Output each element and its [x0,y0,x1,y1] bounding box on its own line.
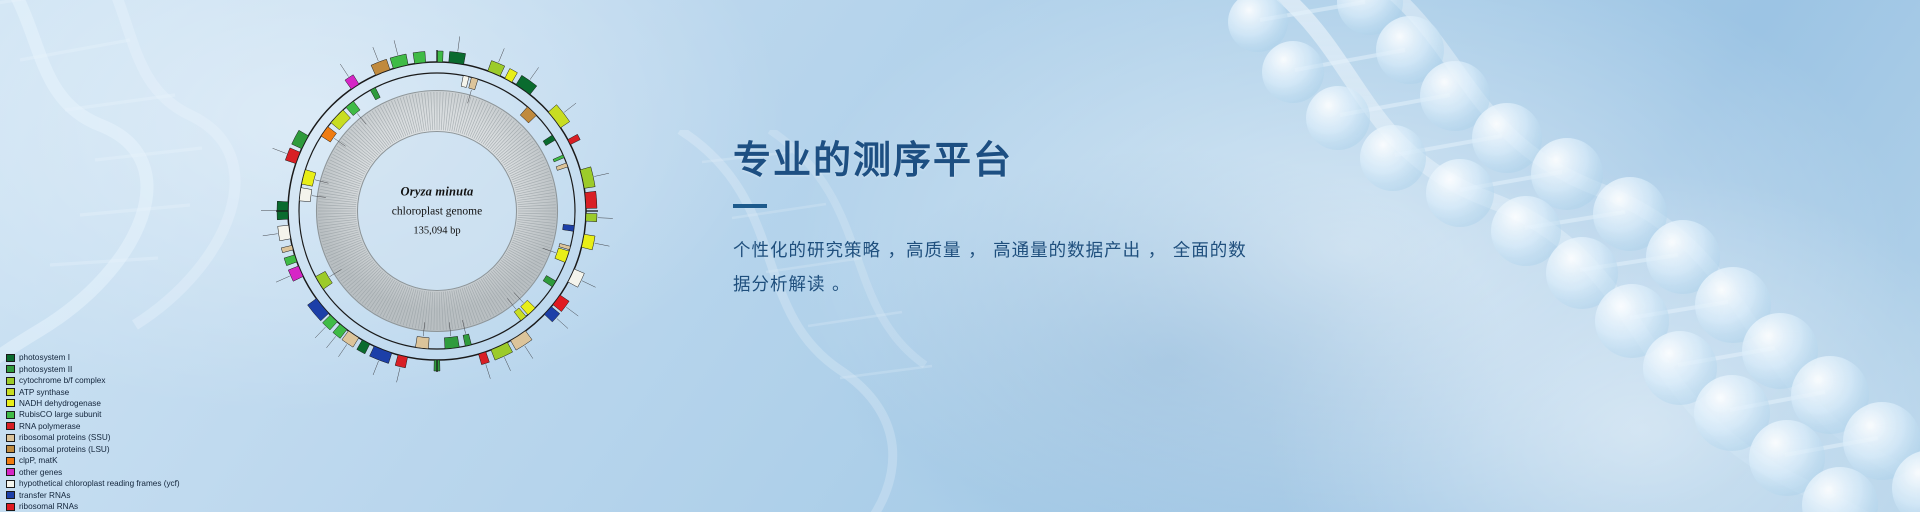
legend-item: ATP synthase [6,386,236,397]
genome-center-annotation: Oryza minuta chloroplast genome 135,094 … [347,182,527,239]
legend-color-swatch [6,354,15,362]
gene-block [370,88,380,100]
gene-leader-line [594,173,609,176]
gene-block [345,75,359,89]
gene-block [278,225,291,241]
gene-block [488,61,505,76]
legend-item-label: other genes [19,468,62,477]
gene-block [285,148,300,164]
gene-leader-line [326,336,335,348]
hero-banner: Oryza minuta chloroplast genome 135,094 … [0,0,1920,512]
legend-item: RubisCO large subunit [6,409,236,420]
gene-block [556,163,568,170]
legend-color-swatch [6,457,15,465]
gene-block [413,51,426,63]
legend-item: transfer RNAs [6,490,236,501]
gene-block [491,342,513,360]
legend-item: ribosomal proteins (LSU) [6,444,236,455]
gene-leader-line [504,357,510,371]
legend-item: clpP, matK [6,455,236,466]
gene-block [370,346,392,363]
gene-leader-line [582,281,596,288]
gene-leader-line [525,346,533,359]
gene-block [346,101,360,115]
genome-species-name: Oryza minuta [347,182,527,201]
legend-item-label: cytochrome b/f complex [19,376,105,385]
gene-leader-line [564,103,576,112]
gene-leader-line [499,48,505,62]
gene-block [292,130,309,148]
gene-block [390,54,408,69]
gene-leader-line [566,307,578,316]
gene-leader-line [458,36,460,51]
genome-map-legend: photosystem Iphotosystem IIcytochrome b/… [6,352,236,512]
legend-item-label: NADH dehydrogenase [19,399,101,408]
gene-block [395,355,407,368]
legend-color-swatch [6,411,15,419]
gene-leader-line [530,67,539,79]
legend-item: photosystem II [6,363,236,374]
legend-item: ribosomal RNAs [6,501,236,512]
legend-color-swatch [6,480,15,488]
legend-item: hypothetical chloroplast reading frames … [6,478,236,489]
legend-color-swatch [6,503,15,511]
gene-block [449,52,466,65]
gene-block [585,191,597,208]
gene-leader-line [397,368,400,383]
gene-block [511,331,532,350]
gene-block [563,224,575,231]
legend-item: ribosomal proteins (SSU) [6,432,236,443]
gene-block [479,352,490,365]
legend-item-label: ribosomal RNAs [19,502,78,511]
gene-leader-line [338,344,346,356]
legend-item: other genes [6,467,236,478]
page-title: 专业的测序平台 [733,140,1373,182]
genome-organelle-label: chloroplast genome [347,204,527,222]
gene-block [553,155,564,162]
legend-color-swatch [6,434,15,442]
gene-block [568,134,580,144]
gene-block [444,336,459,348]
gene-block [299,188,311,202]
legend-item-label: RNA polymerase [19,422,80,431]
legend-item: NADH dehydrogenase [6,398,236,409]
gene-block [415,336,429,348]
gene-block [582,234,596,250]
gene-block [568,269,584,287]
legend-color-swatch [6,468,15,476]
legend-item-label: clpP, matK [19,456,58,465]
gene-block [302,170,316,187]
gene-block [371,59,390,75]
legend-color-swatch [6,422,15,430]
legend-color-swatch [6,399,15,407]
gene-leader-line [340,64,348,77]
gene-block [342,331,359,347]
gene-block [281,245,293,252]
genome-length-label: 135,094 bp [347,223,527,239]
legend-item-label: ATP synthase [19,388,69,397]
legend-color-swatch [6,388,15,396]
legend-item-label: ribosomal proteins (SSU) [19,433,110,442]
legend-item-label: photosystem II [19,365,72,374]
gene-block [463,334,471,346]
gene-leader-line [273,148,287,153]
hero-copy-block: 专业的测序平台 个性化的研究策略 ，高质量 ， 高通量的数据产出 ， 全面的数据… [733,140,1373,302]
gene-leader-line [373,361,378,375]
gene-block [321,127,336,142]
gene-block [520,107,536,123]
gene-block [308,299,329,321]
legend-item: RNA polymerase [6,421,236,432]
gene-block [357,340,370,354]
gene-block [553,295,569,312]
legend-color-swatch [6,445,15,453]
gene-block [437,51,443,62]
legend-item-label: hypothetical chloroplast reading frames … [19,479,180,488]
legend-color-swatch [6,377,15,385]
gene-block [544,307,559,322]
legend-color-swatch [6,491,15,499]
gene-leader-line [394,40,398,55]
gene-block [331,110,351,130]
gene-block [288,266,303,281]
legend-color-swatch [6,365,15,373]
gene-block [516,75,537,94]
gene-leader-line [315,327,325,338]
gene-block [543,135,555,146]
legend-item: cytochrome b/f complex [6,375,236,386]
gene-block [580,167,595,189]
legend-item-label: transfer RNAs [19,491,70,500]
legend-item-label: RubisCO large subunit [19,410,101,419]
gene-block [555,248,569,263]
gene-block [469,77,478,89]
gene-leader-line [486,364,491,378]
gene-block [316,271,333,289]
gene-block [586,213,597,221]
hero-description: 个性化的研究策略 ，高质量 ， 高通量的数据产出 ， 全面的数据分析解读 。 [733,234,1253,302]
gene-block [284,255,297,266]
legend-item-label: ribosomal proteins (LSU) [19,445,110,454]
gene-leader-line [276,276,290,282]
gene-leader-line [373,47,378,61]
gene-leader-line [557,319,568,329]
legend-item-label: photosystem I [19,353,70,362]
gene-block [461,76,469,88]
gene-leader-line [263,234,278,236]
gene-leader-line [595,243,610,246]
gene-leader-line [598,218,613,219]
title-divider [733,204,767,208]
chloroplast-genome-map: Oryza minuta chloroplast genome 135,094 … [232,6,642,416]
legend-item: photosystem I [6,352,236,363]
